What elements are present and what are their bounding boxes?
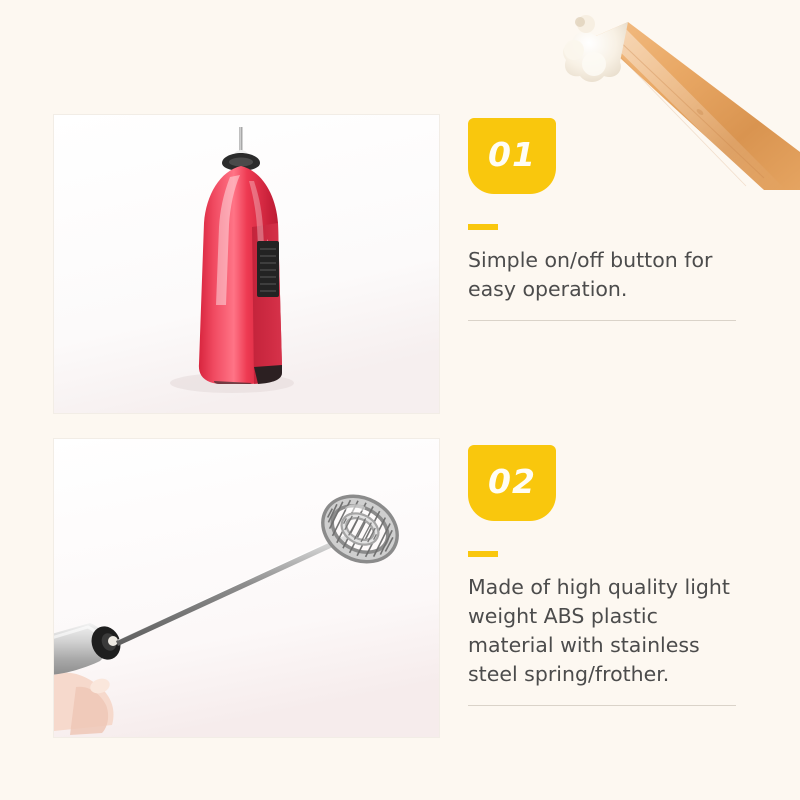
feature-number-1: 01 bbox=[488, 138, 536, 171]
feature-photo-card-2 bbox=[53, 438, 440, 738]
feature-photo-card-1 bbox=[53, 114, 440, 414]
accent-dash-2 bbox=[468, 551, 498, 557]
feature-description-1: Simple on/off button for easy operation. bbox=[468, 246, 768, 304]
feature-number-badge-2: 02 bbox=[468, 445, 556, 521]
red-frother-handle-photo bbox=[54, 115, 439, 413]
accent-dash-1 bbox=[468, 224, 498, 230]
feature-divider-1 bbox=[468, 320, 736, 321]
feature-description-2: Made of high quality light weight ABS pl… bbox=[468, 573, 768, 689]
feature-block-2: 02 Made of high quality light weight ABS… bbox=[468, 445, 768, 706]
feature-block-1: 01 Simple on/off button for easy operati… bbox=[468, 118, 768, 321]
feature-number-badge-1: 01 bbox=[468, 118, 556, 194]
stainless-whisk-wand-photo bbox=[54, 439, 439, 737]
feature-number-2: 02 bbox=[488, 465, 536, 498]
feature-divider-2 bbox=[468, 705, 736, 706]
